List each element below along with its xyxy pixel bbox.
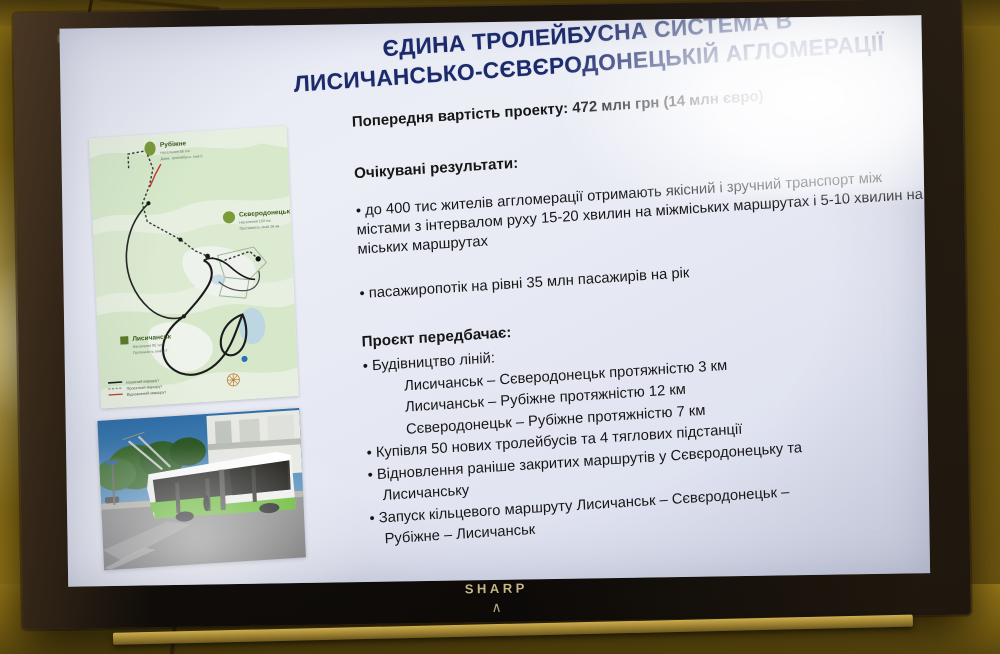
- svg-text:Рубіжне: Рубіжне: [160, 139, 187, 149]
- room-scene: HDMI ЄДИНА ТРОЛЕЙБУСНА СИСТЕМА В ЛИСИЧАН…: [0, 0, 1000, 654]
- tv-screen: ЄДИНА ТРОЛЕЙБУСНА СИСТЕМА В ЛИСИЧАНСЬКО-…: [59, 15, 930, 586]
- presentation-slide: ЄДИНА ТРОЛЕЙБУСНА СИСТЕМА В ЛИСИЧАНСЬКО-…: [59, 15, 930, 586]
- trolleybus-photo-svg: [97, 408, 305, 570]
- route-map-svg: Рубіжне Населення 56 тис Довж. тролейбус…: [89, 126, 299, 409]
- trolleybus-photo: [97, 408, 305, 570]
- route-map-image: Рубіжне Населення 56 тис Довж. тролейбус…: [89, 126, 299, 409]
- television: HDMI ЄДИНА ТРОЛЕЙБУСНА СИСТЕМА В ЛИСИЧАН…: [13, 0, 971, 629]
- slide-body: Попередня вартість проекту: 472 млн грн …: [352, 77, 931, 553]
